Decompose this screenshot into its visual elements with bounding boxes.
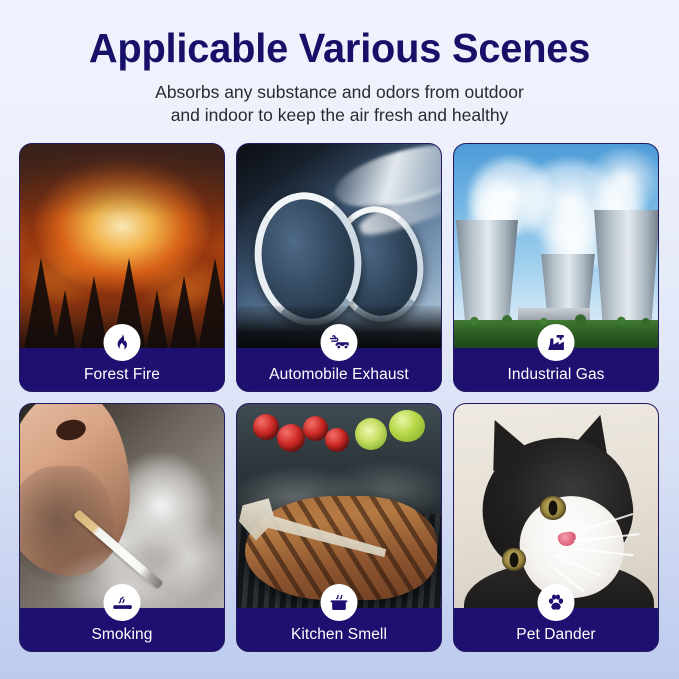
burning-forest-photo	[20, 144, 224, 350]
paw-print-icon	[538, 584, 575, 621]
exhaust-pipes-photo	[237, 144, 441, 350]
flame-icon	[104, 324, 141, 361]
grilled-steak-photo	[237, 404, 441, 610]
cooking-pot-icon	[321, 584, 358, 621]
scene-label: Industrial Gas	[507, 366, 604, 384]
scene-label: Smoking	[91, 626, 152, 644]
cigarette-icon	[104, 584, 141, 621]
scene-card-automobile-exhaust[interactable]: Automobile Exhaust	[236, 143, 442, 392]
car-exhaust-icon	[321, 324, 358, 361]
scene-card-forest-fire[interactable]: Forest Fire	[19, 143, 225, 392]
scene-label: Pet Dander	[516, 626, 595, 644]
scene-label: Forest Fire	[84, 366, 160, 384]
scene-label: Kitchen Smell	[291, 626, 387, 644]
infographic-page: Applicable Various Scenes Absorbs any su…	[0, 0, 679, 679]
cooling-towers-photo	[454, 144, 658, 350]
page-subtitle: Absorbs any substance and odors from out…	[0, 81, 679, 127]
scene-card-industrial-gas[interactable]: Industrial Gas	[453, 143, 659, 392]
page-title: Applicable Various Scenes	[10, 24, 669, 72]
scene-card-kitchen-smell[interactable]: Kitchen Smell	[236, 403, 442, 652]
scene-label: Automobile Exhaust	[269, 366, 409, 384]
scene-card-pet-dander[interactable]: Pet Dander	[453, 403, 659, 652]
subtitle-line-1: Absorbs any substance and odors from out…	[155, 82, 524, 102]
scene-card-smoking[interactable]: Smoking	[19, 403, 225, 652]
tuxedo-cat-photo	[454, 404, 658, 610]
factory-icon	[538, 324, 575, 361]
scene-grid: Forest Fire	[19, 143, 660, 652]
man-smoking-photo	[20, 404, 224, 610]
subtitle-line-2: and indoor to keep the air fresh and hea…	[171, 105, 509, 125]
header: Applicable Various Scenes Absorbs any su…	[0, 0, 679, 127]
